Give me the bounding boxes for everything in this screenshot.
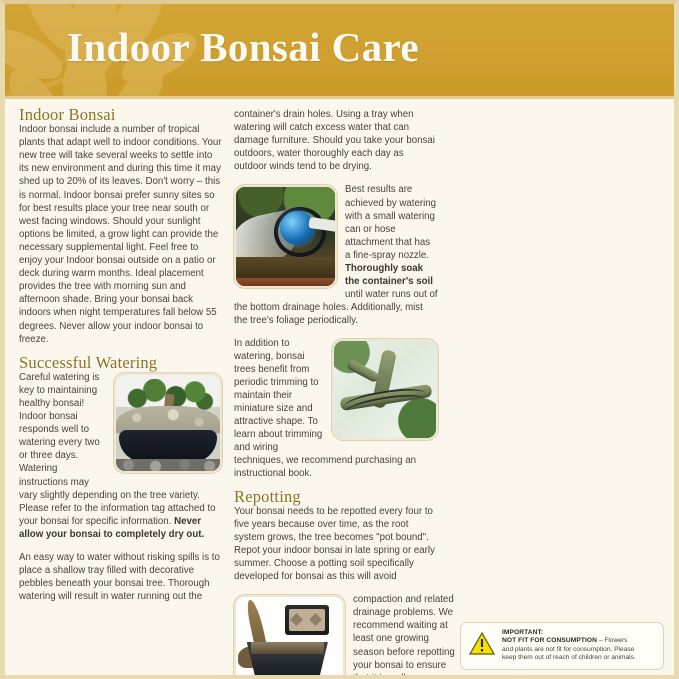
warning-line-3: and plants are not fit for consumption. … — [502, 646, 636, 654]
column-2: container's drain holes. Using a tray wh… — [234, 108, 438, 593]
bonsai-in-dark-oval-pot-photo — [114, 373, 222, 473]
best-results-part1: Best results are achieved by watering wi… — [345, 184, 436, 260]
heading-repotting: Repotting — [234, 490, 438, 503]
warning-line-rest: – Flowers — [597, 637, 627, 644]
warning-triangle-icon — [469, 632, 495, 655]
paragraph-watering-2: An easy way to water without risking spi… — [19, 551, 222, 603]
brochure-page: Indoor Bonsai Care Indoor Bonsai Indoor … — [0, 0, 679, 679]
column-3: compaction and related drainage problems… — [234, 593, 456, 679]
wired-bonsai-branches-photo — [332, 339, 438, 440]
content-columns: Indoor Bonsai Indoor bonsai include a nu… — [5, 99, 674, 675]
column-1: Indoor Bonsai Indoor bonsai include a nu… — [19, 108, 222, 613]
warning-line-4: keep them out of reach of children or an… — [502, 654, 636, 662]
best-results-part2: until water runs out of the bottom drain… — [234, 289, 438, 326]
blue-spray-nozzle-watering-photo — [234, 185, 337, 288]
paragraph-indoor-bonsai: Indoor bonsai include a number of tropic… — [19, 123, 222, 346]
warning-line-important: IMPORTANT: — [502, 629, 636, 637]
important-warning-box: IMPORTANT: NOT FIT FOR CONSUMPTION – Flo… — [460, 622, 664, 670]
best-results-bold: Thoroughly soak the container's soil — [345, 263, 433, 287]
page-header: Indoor Bonsai Care — [5, 4, 674, 99]
warning-text-block: IMPORTANT: NOT FIT FOR CONSUMPTION – Flo… — [502, 629, 636, 663]
heading-indoor-bonsai: Indoor Bonsai — [19, 108, 222, 121]
paragraph-drain-holes: container's drain holes. Using a tray wh… — [234, 108, 438, 173]
heading-successful-watering: Successful Watering — [19, 356, 222, 369]
warning-line-not-fit: NOT FIT FOR CONSUMPTION — [502, 637, 597, 644]
page-title: Indoor Bonsai Care — [67, 23, 419, 71]
paragraph-repotting: Your bonsai needs to be repotted every f… — [234, 505, 438, 584]
bonsai-pot-drainage-mesh-photo — [234, 595, 345, 679]
